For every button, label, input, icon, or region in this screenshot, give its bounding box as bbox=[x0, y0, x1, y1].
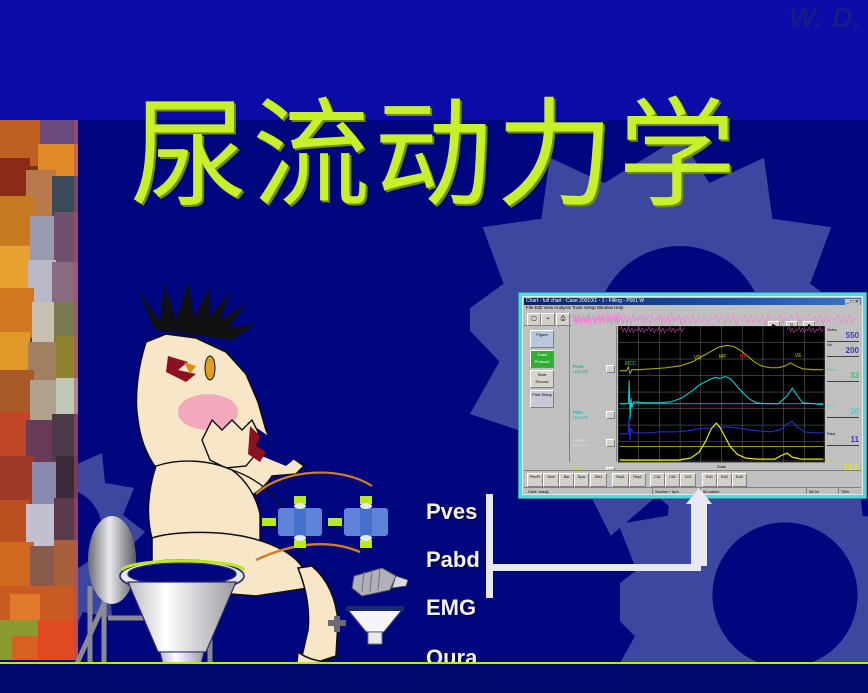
bottom-button-get1[interactable]: Get1 bbox=[590, 473, 607, 487]
bottom-toolbar: PrevPt Next Bar Sync Get1 Rep1 Rep2 Ch1 … bbox=[524, 470, 861, 486]
bottom-button-evt1[interactable]: Evt1 bbox=[702, 473, 717, 487]
status-cell-time: 08:34 bbox=[806, 488, 819, 495]
readout-pves-value: 33 bbox=[827, 372, 859, 380]
window-title-text: Chart - full chart - Case 20010/1 - 1 - … bbox=[526, 298, 644, 304]
toolbar-analyze-button[interactable]: ⌁ bbox=[541, 313, 555, 326]
slide-title: 尿流动力学 bbox=[130, 96, 770, 214]
toolbar-new-button[interactable]: ▢ bbox=[527, 313, 541, 326]
readout-pdet-value: 20 bbox=[827, 408, 859, 416]
plot-scroll-row[interactable]: Scan bbox=[618, 462, 825, 470]
channel-pves-menu-button[interactable] bbox=[606, 365, 615, 373]
label-pabd: Pabd bbox=[426, 547, 480, 573]
pressure-transducer-1 bbox=[262, 496, 322, 548]
footer-accent-rule bbox=[0, 662, 868, 664]
label-pves: Pves bbox=[426, 499, 477, 525]
bottom-button-ch1[interactable]: Ch1 bbox=[650, 473, 665, 487]
emg-overview-strip bbox=[571, 311, 861, 326]
rail-button-start-record[interactable]: Start Record bbox=[530, 370, 554, 388]
readout-vol: Vol 200 bbox=[827, 343, 859, 357]
bracket-vertical bbox=[486, 494, 493, 598]
channel-tag-pves[interactable]: Pves cmH2O bbox=[573, 364, 615, 374]
readout-vinfus-value: 550 bbox=[827, 332, 859, 340]
plot-annotation-mp: MP bbox=[740, 354, 748, 360]
bracket-horizontal bbox=[486, 564, 701, 571]
bottom-button-evt3[interactable]: Evt3 bbox=[732, 473, 747, 487]
readout-pves: Pves 33 bbox=[827, 368, 859, 382]
pressure-transducer-2 bbox=[328, 496, 388, 548]
bottom-button-evt2[interactable]: Evt2 bbox=[717, 473, 732, 487]
corner-initials: W. D. bbox=[789, 2, 862, 34]
channel-tag-pabd[interactable]: Pabd cmH2O bbox=[573, 438, 615, 448]
bottom-button-sync[interactable]: Sync bbox=[574, 473, 589, 487]
readout-vinfus: Vinfus 550 bbox=[827, 328, 859, 342]
emg-electrode-sensor bbox=[352, 568, 408, 596]
readout-pdet: Pdet 20 bbox=[827, 404, 859, 418]
rail-button-print-setup[interactable]: Print Setup bbox=[530, 390, 554, 408]
label-emg: EMG bbox=[426, 595, 476, 621]
status-cell-percent: 78% bbox=[838, 488, 849, 495]
bottom-button-ch2[interactable]: Ch2 bbox=[665, 473, 680, 487]
readout-pabd-value: 11 bbox=[827, 436, 859, 444]
footer-strip bbox=[0, 664, 868, 693]
sensor-transducer-group bbox=[250, 460, 440, 660]
bracket-arrow-shaft bbox=[691, 498, 707, 566]
readout-pabd: Pabd 11 bbox=[827, 432, 859, 446]
channel-pdet-menu-button[interactable] bbox=[606, 411, 615, 419]
plot-annotation-mf: MF bbox=[719, 354, 727, 360]
channel-label-column: Pves cmH2O Pdet cmH2O Pabd cmH2O Qura ml… bbox=[571, 326, 617, 462]
uroflowmeter-icon bbox=[328, 606, 404, 644]
presentation-slide: 尿流动力学 W. D. bbox=[0, 0, 868, 693]
status-cell-section: Section * bps bbox=[652, 488, 679, 495]
readout-vol-value: 200 bbox=[827, 347, 859, 355]
bottom-button-ch3[interactable]: Ch3 bbox=[680, 473, 696, 487]
bottom-button-rep2[interactable]: Rep2 bbox=[629, 473, 646, 487]
bottom-button-prevpt[interactable]: PrevPt bbox=[527, 473, 543, 487]
toolbar-export-button[interactable]: ⎙ bbox=[556, 313, 570, 326]
urodynamics-monitor[interactable]: Chart - full chart - Case 20010/1 - 1 - … bbox=[519, 293, 866, 498]
multichannel-plot[interactable]: MCC VD MF MP VE bbox=[618, 326, 825, 462]
plot-annotation-mcc: MCC bbox=[625, 361, 637, 367]
rail-button-trace-protocol[interactable]: Trace Protocol bbox=[530, 350, 554, 368]
bottom-button-rep1[interactable]: Rep1 bbox=[612, 473, 629, 487]
plot-annotation-vd: VD bbox=[694, 355, 701, 361]
readout-column: Vinfus 550 Vol 200 Pves 33 Pdet 20 Pabd bbox=[825, 326, 861, 462]
scroll-label: Scan bbox=[717, 464, 726, 469]
channel-tag-pdet[interactable]: Pdet cmH2O bbox=[573, 410, 615, 420]
bracket-arrow-head bbox=[686, 488, 712, 504]
plot-annotation-ve: VE bbox=[795, 353, 802, 359]
status-cell-ready: Cont. ready bbox=[526, 488, 549, 495]
channel-pabd-menu-button[interactable] bbox=[606, 439, 615, 447]
rail-button-figure[interactable]: Figure bbox=[530, 330, 554, 348]
software-window: Chart - full chart - Case 20010/1 - 1 - … bbox=[522, 296, 863, 495]
bottom-button-bar[interactable]: Bar bbox=[559, 473, 574, 487]
left-tool-rail: Figure Trace Protocol Start Record Print… bbox=[524, 326, 570, 462]
window-title-bar[interactable]: Chart - full chart - Case 20010/1 - 1 - … bbox=[524, 298, 861, 305]
bottom-button-next[interactable]: Next bbox=[543, 473, 559, 487]
